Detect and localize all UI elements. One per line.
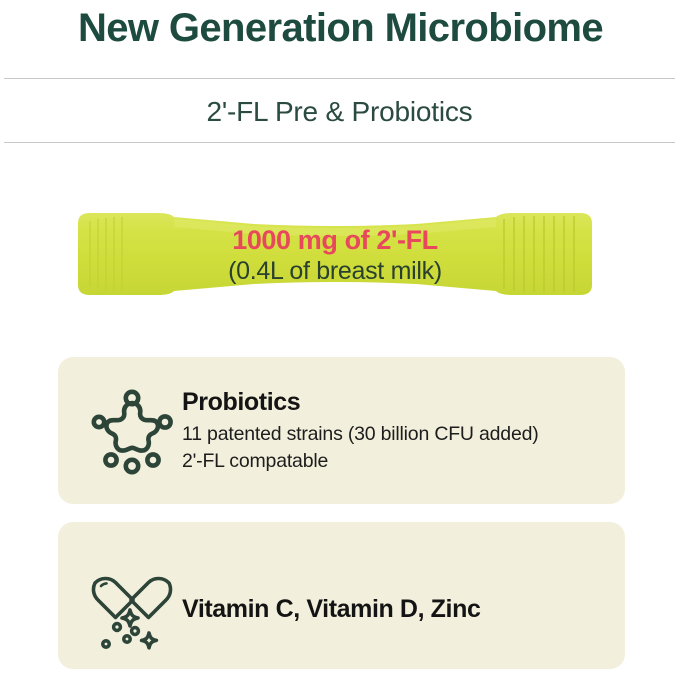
probiotics-heading: Probiotics	[182, 387, 625, 418]
probiotics-detail-line-1: 11 patented strains (30 billion CFU adde…	[182, 421, 625, 448]
vitamins-icon-slot	[86, 561, 178, 651]
page-subtitle: 2'-FL Pre & Probiotics	[0, 93, 679, 131]
feature-card-probiotics: Probiotics 11 patented strains (30 billi…	[58, 357, 625, 504]
divider-bottom	[4, 142, 675, 143]
probiotics-icon-slot	[86, 387, 178, 475]
divider-top	[4, 78, 675, 79]
stick-pack-graphic: 1000 mg of 2'-FL (0.4L of breast milk)	[74, 205, 596, 305]
vitamins-card-body: Vitamin C, Vitamin D, Zinc	[178, 593, 625, 626]
sachet-stick-pack-icon	[74, 205, 596, 305]
pack-body	[78, 213, 592, 295]
page-title: New Generation Microbiome	[8, 2, 673, 54]
microbe-icon	[88, 387, 176, 475]
capsule-sparkle-icon	[87, 561, 177, 651]
feature-card-vitamins: Vitamin C, Vitamin D, Zinc	[58, 522, 625, 669]
probiotics-detail-line-2: 2'-FL compatable	[182, 448, 625, 475]
probiotics-card-body: Probiotics 11 patented strains (30 billi…	[178, 387, 625, 475]
vitamins-heading: Vitamin C, Vitamin D, Zinc	[182, 593, 512, 626]
